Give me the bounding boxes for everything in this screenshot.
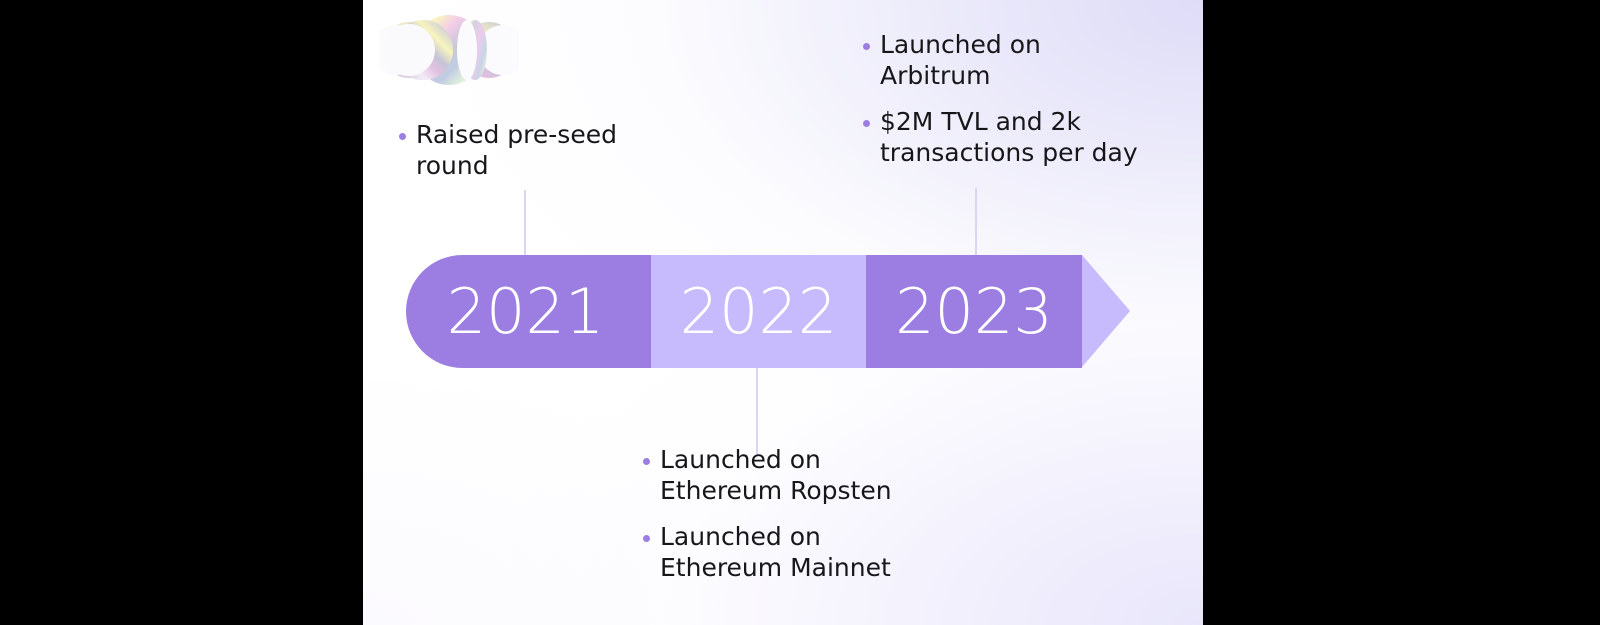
list-item: $2M TVL and 2k transactions per day: [863, 107, 1183, 168]
bullet-dot-icon: [863, 43, 870, 50]
bullet-dot-icon: [399, 133, 406, 140]
annotation-2023: Launched on Arbitrum $2M TVL and 2k tran…: [863, 30, 1183, 168]
list-item: Launched on Ethereum Mainnet: [643, 522, 943, 583]
annotation-text: Raised pre-seed round: [416, 120, 617, 181]
timeline-segment-2022[interactable]: 2022: [651, 255, 866, 368]
presentation-slide: 2021 2022 2023 Raised pre-seed round Lau…: [363, 0, 1203, 625]
annotation-text: Launched on Arbitrum: [880, 30, 1041, 91]
bullet-dot-icon: [863, 120, 870, 127]
timeline-bar: 2021 2022 2023: [406, 255, 1171, 368]
annotation-text: $2M TVL and 2k transactions per day: [880, 107, 1138, 168]
letterbox-left: [0, 0, 363, 625]
timeline-year-label: 2021: [447, 281, 605, 343]
list-item: Raised pre-seed round: [399, 120, 669, 181]
connector-line-2023: [975, 188, 977, 258]
timeline-segment-2021[interactable]: 2021: [406, 255, 651, 368]
annotation-2022: Launched on Ethereum Ropsten Launched on…: [643, 445, 943, 583]
connector-line-2021: [524, 190, 526, 258]
list-item: Launched on Arbitrum: [863, 30, 1183, 91]
bullet-dot-icon: [643, 458, 650, 465]
connector-line-2022: [756, 368, 758, 454]
mochi-iridescent-logo: [379, 14, 519, 86]
letterbox-right: [1203, 0, 1600, 625]
annotation-text: Launched on Ethereum Ropsten: [660, 445, 892, 506]
bullet-dot-icon: [643, 535, 650, 542]
annotation-2021: Raised pre-seed round: [399, 120, 669, 181]
timeline-arrow-icon: [1082, 255, 1130, 367]
timeline-year-label: 2023: [895, 281, 1053, 343]
timeline-year-label: 2022: [680, 281, 838, 343]
timeline-segment-2023[interactable]: 2023: [866, 255, 1082, 368]
list-item: Launched on Ethereum Ropsten: [643, 445, 943, 506]
annotation-text: Launched on Ethereum Mainnet: [660, 522, 891, 583]
